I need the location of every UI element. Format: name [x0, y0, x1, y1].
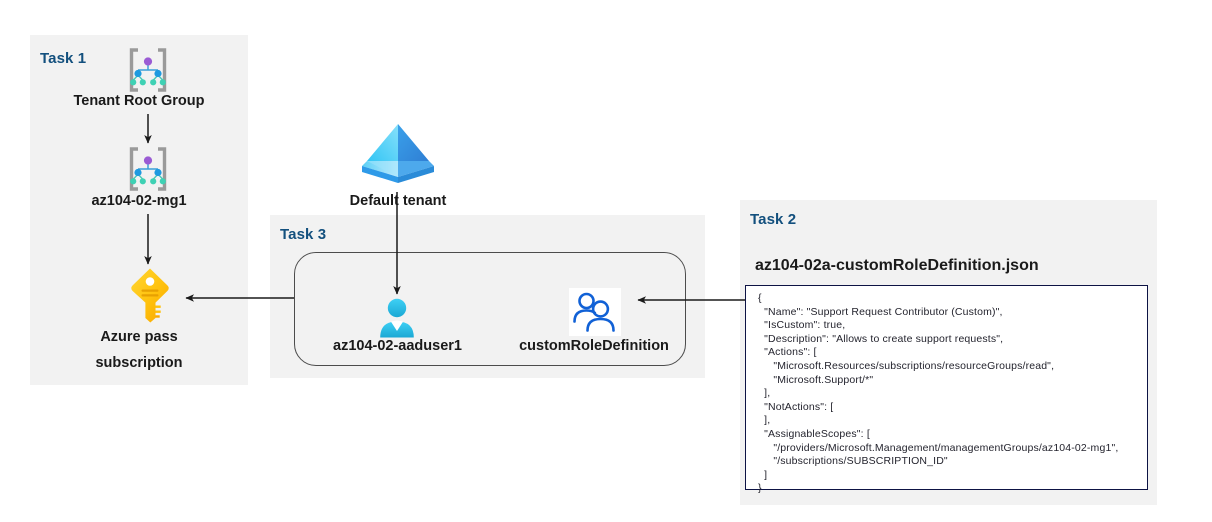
azure-ad-tenant-icon — [358, 120, 438, 188]
json-line: "/subscriptions/SUBSCRIPTION_ID" — [758, 455, 1137, 469]
json-line: ] — [758, 469, 1137, 483]
default-tenant-label: Default tenant — [300, 192, 496, 210]
aaduser1-label: az104-02-aaduser1 — [300, 337, 495, 355]
mg1-label: az104-02-mg1 — [30, 192, 248, 210]
json-line: ], — [758, 387, 1137, 401]
json-line: "Description": "Allows to create support… — [758, 333, 1137, 347]
task1-label: Task 1 — [40, 50, 86, 67]
json-line: } — [758, 482, 1137, 496]
json-line: "/providers/Microsoft.Management/managem… — [758, 442, 1137, 456]
json-line: "AssignableScopes": [ — [758, 428, 1137, 442]
json-line: "Microsoft.Resources/subscriptions/resou… — [758, 360, 1137, 374]
json-line: "NotActions": [ — [758, 401, 1137, 415]
json-line: "IsCustom": true, — [758, 319, 1137, 333]
subscription-label-line2: subscription — [30, 354, 248, 372]
task2-label: Task 2 — [750, 211, 796, 228]
customroledefinition-label: customRoleDefinition — [497, 337, 691, 355]
json-code-content: { "Name": "Support Request Contributor (… — [758, 292, 1137, 496]
user-icon — [374, 296, 420, 342]
management-group-icon — [124, 46, 172, 94]
json-line: ], — [758, 414, 1137, 428]
management-group-icon — [124, 145, 172, 193]
key-icon — [126, 266, 174, 324]
subscription-label-line1: Azure pass — [30, 328, 248, 346]
task3-label: Task 3 — [280, 226, 326, 243]
json-line: { — [758, 292, 1137, 306]
json-file-name: az104-02a-customRoleDefinition.json — [755, 257, 1039, 275]
role-definition-icon — [569, 288, 621, 336]
tenant-root-group-label: Tenant Root Group — [30, 92, 248, 110]
json-line: "Actions": [ — [758, 346, 1137, 360]
json-line: "Name": "Support Request Contributor (Cu… — [758, 306, 1137, 320]
json-code-box: { "Name": "Support Request Contributor (… — [745, 285, 1148, 490]
json-line: "Microsoft.Support/*" — [758, 374, 1137, 388]
